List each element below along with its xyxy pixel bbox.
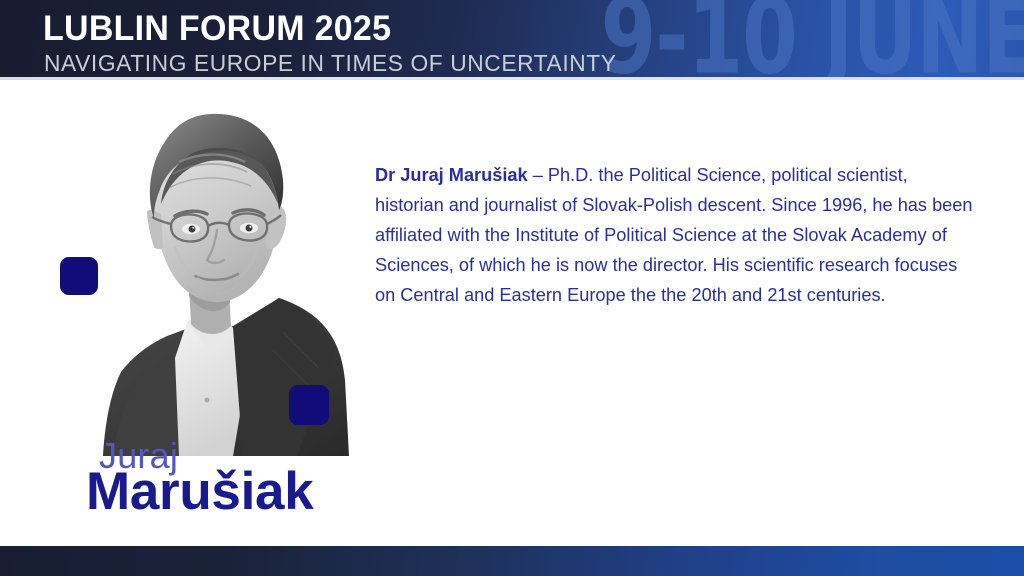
speaker-bio-body: – Ph.D. the Political Science, political… [375, 165, 973, 305]
speaker-bio-lead: Dr Juraj Marušiak [375, 165, 528, 185]
speaker-last-name: Marušiak [86, 465, 313, 518]
decorative-square-right [289, 385, 329, 425]
speaker-bio: Dr Juraj Marušiak – Ph.D. the Political … [375, 160, 975, 310]
decorative-square-left [60, 257, 98, 295]
header-divider [0, 77, 1024, 80]
header-banner: 9-10 JUNE LUBLIN FORUM 2025 NAVIGATING E… [0, 0, 1024, 77]
footer-bar [0, 546, 1024, 576]
event-title: LUBLIN FORUM 2025 [43, 9, 391, 49]
event-subtitle: NAVIGATING EUROPE IN TIMES OF UNCERTAINT… [44, 50, 617, 77]
event-date: 9-10 JUNE [601, 0, 1024, 77]
